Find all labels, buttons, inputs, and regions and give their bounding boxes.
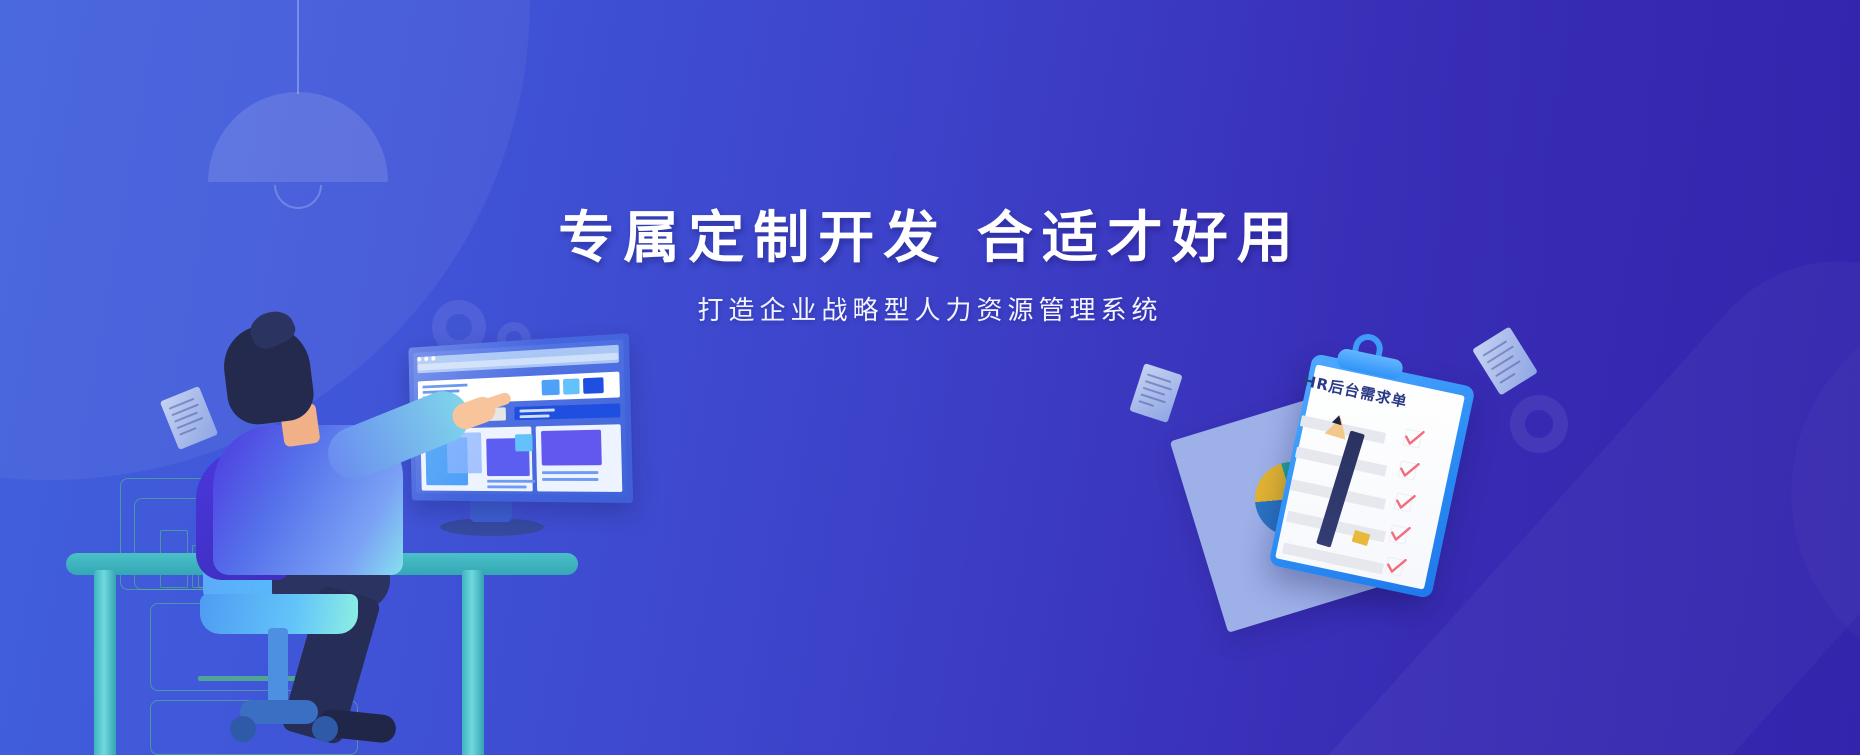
panel-tile-5 xyxy=(541,430,602,466)
hero-banner: HR后台需求单 专属定制开发 合适才好用 打造企业战略型人力资源管理系统 xyxy=(0,0,1860,755)
desk-leg-right xyxy=(462,570,484,755)
panel-line-3 xyxy=(542,471,598,474)
panel-line-1 xyxy=(487,480,535,483)
floating-paper-icon-middle xyxy=(1129,363,1182,423)
lamp-cord xyxy=(297,0,299,94)
office-chair-pole xyxy=(268,628,288,706)
desk-leg-left xyxy=(94,570,116,755)
header-chip-3 xyxy=(583,377,604,394)
panel-line-4 xyxy=(542,478,598,481)
checkmark-icon xyxy=(1393,492,1413,512)
lamp-shade xyxy=(208,92,388,182)
gear-teeth xyxy=(1510,395,1568,453)
banner-subheadline: 打造企业战略型人力资源管理系统 xyxy=(0,290,1860,327)
checkmark-icon xyxy=(1384,556,1404,576)
gear-icon-right xyxy=(1510,395,1568,453)
header-chip-1 xyxy=(542,379,560,395)
panel-tile-4 xyxy=(515,434,533,451)
header-chip-2 xyxy=(563,378,580,394)
panel-line-2 xyxy=(487,485,526,488)
checkmark-icon xyxy=(1397,460,1417,480)
banner-copy: 专属定制开发 合适才好用 打造企业战略型人力资源管理系统 xyxy=(0,208,1860,327)
checkmark-icon xyxy=(1388,524,1408,544)
office-chair-wheel-right xyxy=(312,716,338,742)
checkmark-icon xyxy=(1402,428,1422,448)
monitor-stand xyxy=(470,500,512,522)
office-chair-wheel-left xyxy=(230,716,256,742)
banner-headline: 专属定制开发 合适才好用 xyxy=(0,208,1860,270)
hanging-lamp-icon xyxy=(208,0,388,194)
